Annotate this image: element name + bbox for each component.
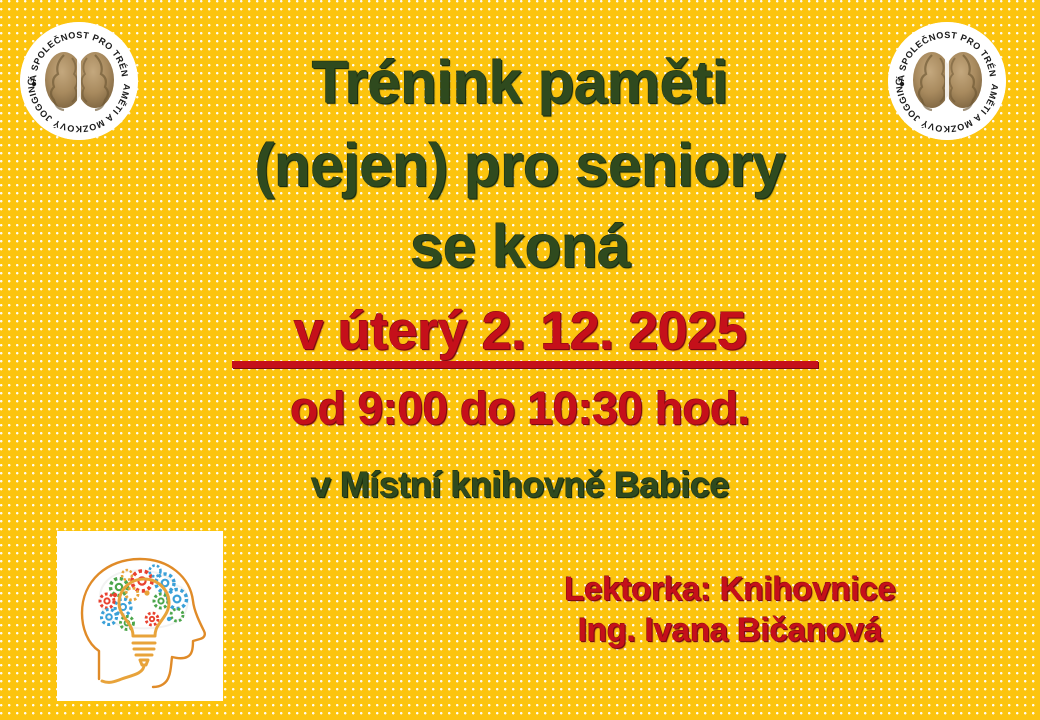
lecturer-name: Ing. Ivana Bičanová bbox=[420, 609, 1040, 650]
event-time: od 9:00 do 10:30 hod. bbox=[0, 381, 1040, 435]
event-date-underline bbox=[232, 361, 818, 368]
poster-canvas: ČESKÁ SPOLEČNOST PRO TRÉNOVÁNÍ PAMĚTI A … bbox=[0, 0, 1040, 720]
lecturer-role: Lektorka: Knihovnice bbox=[420, 568, 1040, 609]
poster-title-line-1: Trénink paměti bbox=[0, 48, 1040, 117]
event-date: v úterý 2. 12. 2025 bbox=[0, 300, 1040, 362]
lecturer-block: Lektorka: Knihovnice Ing. Ivana Bičanová bbox=[420, 568, 1040, 650]
event-venue: v Místní knihovně Babice bbox=[0, 464, 1040, 506]
poster-title-line-2: (nejen) pro seniory bbox=[0, 131, 1040, 200]
head-gears-lightbulb-icon bbox=[57, 531, 223, 701]
poster-title-line-3: se koná bbox=[0, 212, 1040, 281]
